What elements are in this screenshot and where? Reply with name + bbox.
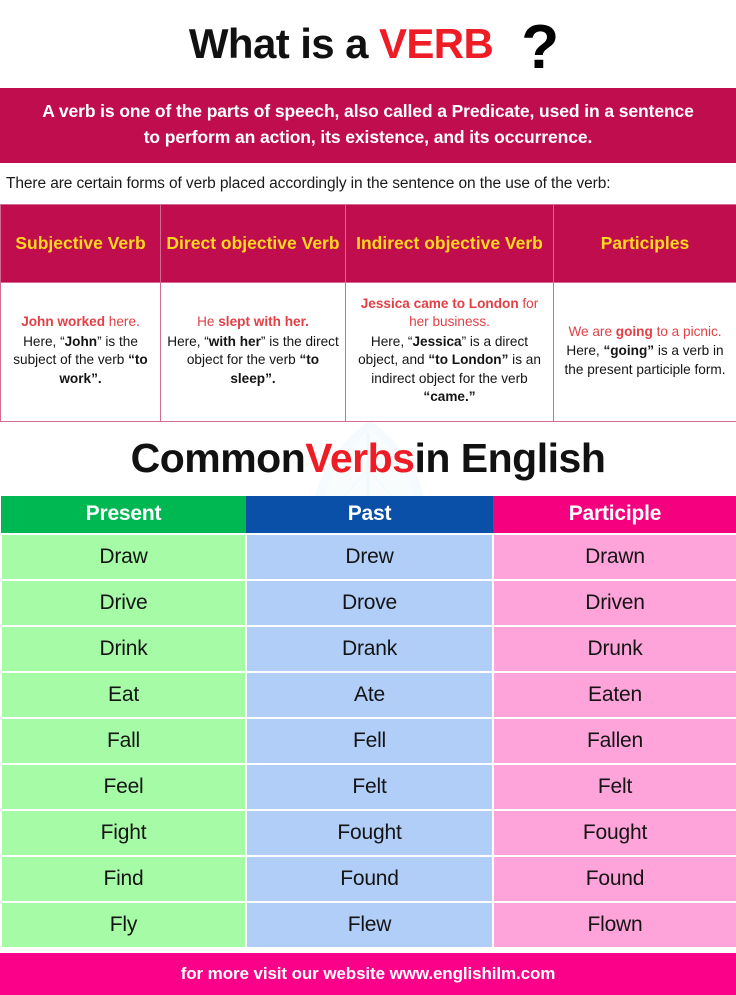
forms-col-header-indirect: Indirect objective Verb: [346, 204, 554, 282]
verb-participle: Eaten: [493, 672, 736, 718]
footer-banner: for more visit our website www.englishil…: [0, 953, 736, 995]
question-mark-icon: ?: [521, 24, 559, 72]
verb-participle: Felt: [493, 764, 736, 810]
forms-explanation-participles: Here, “going” is a verb in the present p…: [565, 343, 726, 376]
verb-past: Ate: [246, 672, 493, 718]
table-row: Fight Fought Fought: [1, 810, 736, 856]
verb-participle: Fallen: [493, 718, 736, 764]
verb-participle: Drawn: [493, 534, 736, 580]
forms-table-body-row: John worked here. Here, “John” is the su…: [1, 282, 736, 421]
section-heading-suffix: in English: [414, 435, 605, 482]
forms-col-header-direct: Direct objective Verb: [161, 204, 346, 282]
table-row: Find Found Found: [1, 856, 736, 902]
forms-example-direct: He slept with her.: [167, 313, 339, 331]
verbs-col-header-present: Present: [1, 496, 246, 534]
forms-col-header-participles: Participles: [554, 204, 736, 282]
forms-cell-participles: We are going to a picnic. Here, “going” …: [554, 282, 736, 421]
leadin-text: There are certain forms of verb placed a…: [0, 163, 736, 204]
forms-cell-direct: He slept with her. Here, “with her” is t…: [161, 282, 346, 421]
verb-past: Drank: [246, 626, 493, 672]
verb-past: Flew: [246, 902, 493, 947]
verb-present: Feel: [1, 764, 246, 810]
verbs-col-header-participle: Participle: [493, 496, 736, 534]
page-title-prefix: What is a: [189, 20, 379, 67]
forms-example-indirect: Jessica came to London for her business.: [352, 295, 547, 332]
verb-present: Draw: [1, 534, 246, 580]
verb-past: Felt: [246, 764, 493, 810]
infographic-page: What is a VERB ? A verb is one of the pa…: [0, 0, 736, 995]
forms-explanation-direct: Here, “with her” is the direct object fo…: [167, 334, 338, 386]
table-row: Fly Flew Flown: [1, 902, 736, 947]
forms-explanation-subjective: Here, “John” is the subject of the verb …: [13, 334, 148, 386]
page-title-accent: VERB: [379, 20, 493, 67]
verb-present: Drink: [1, 626, 246, 672]
table-row: Drive Drove Driven: [1, 580, 736, 626]
forms-cell-subjective: John worked here. Here, “John” is the su…: [1, 282, 161, 421]
page-title-row: What is a VERB ?: [0, 0, 736, 88]
verb-participle: Drunk: [493, 626, 736, 672]
table-row: Draw Drew Drawn: [1, 534, 736, 580]
verb-present: Fall: [1, 718, 246, 764]
verb-participle: Flown: [493, 902, 736, 947]
section-heading-accent: Verbs: [305, 435, 414, 482]
verb-present: Eat: [1, 672, 246, 718]
verbs-col-header-past: Past: [246, 496, 493, 534]
section-heading: Common Verbs in English: [0, 422, 736, 496]
verb-present: Find: [1, 856, 246, 902]
forms-example-participles: We are going to a picnic.: [560, 323, 730, 341]
definition-banner: A verb is one of the parts of speech, al…: [0, 88, 736, 163]
forms-col-header-subjective: Subjective Verb: [1, 204, 161, 282]
verb-present: Fight: [1, 810, 246, 856]
verb-past: Fought: [246, 810, 493, 856]
verb-past: Found: [246, 856, 493, 902]
forms-example-subjective: John worked here.: [7, 313, 154, 331]
table-row: Eat Ate Eaten: [1, 672, 736, 718]
verb-past: Drew: [246, 534, 493, 580]
table-row: Fall Fell Fallen: [1, 718, 736, 764]
forms-cell-indirect: Jessica came to London for her business.…: [346, 282, 554, 421]
table-row: Feel Felt Felt: [1, 764, 736, 810]
verb-participle: Fought: [493, 810, 736, 856]
verbs-table-body: Draw Drew Drawn Drive Drove Driven Drink…: [1, 534, 736, 947]
verb-forms-table: Subjective Verb Direct objective Verb In…: [0, 204, 736, 422]
forms-explanation-indirect: Here, “Jessica” is a direct object, and …: [358, 334, 541, 404]
verbs-table-header-row: Present Past Participle: [1, 496, 736, 534]
table-row: Drink Drank Drunk: [1, 626, 736, 672]
page-title: What is a VERB: [189, 23, 493, 65]
verb-past: Fell: [246, 718, 493, 764]
verb-past: Drove: [246, 580, 493, 626]
verb-present: Fly: [1, 902, 246, 947]
section-heading-prefix: Common: [131, 435, 306, 482]
verb-present: Drive: [1, 580, 246, 626]
verb-participle: Found: [493, 856, 736, 902]
common-verbs-table: Present Past Participle Draw Drew Drawn …: [0, 496, 736, 947]
verb-participle: Driven: [493, 580, 736, 626]
forms-table-header-row: Subjective Verb Direct objective Verb In…: [1, 204, 736, 282]
